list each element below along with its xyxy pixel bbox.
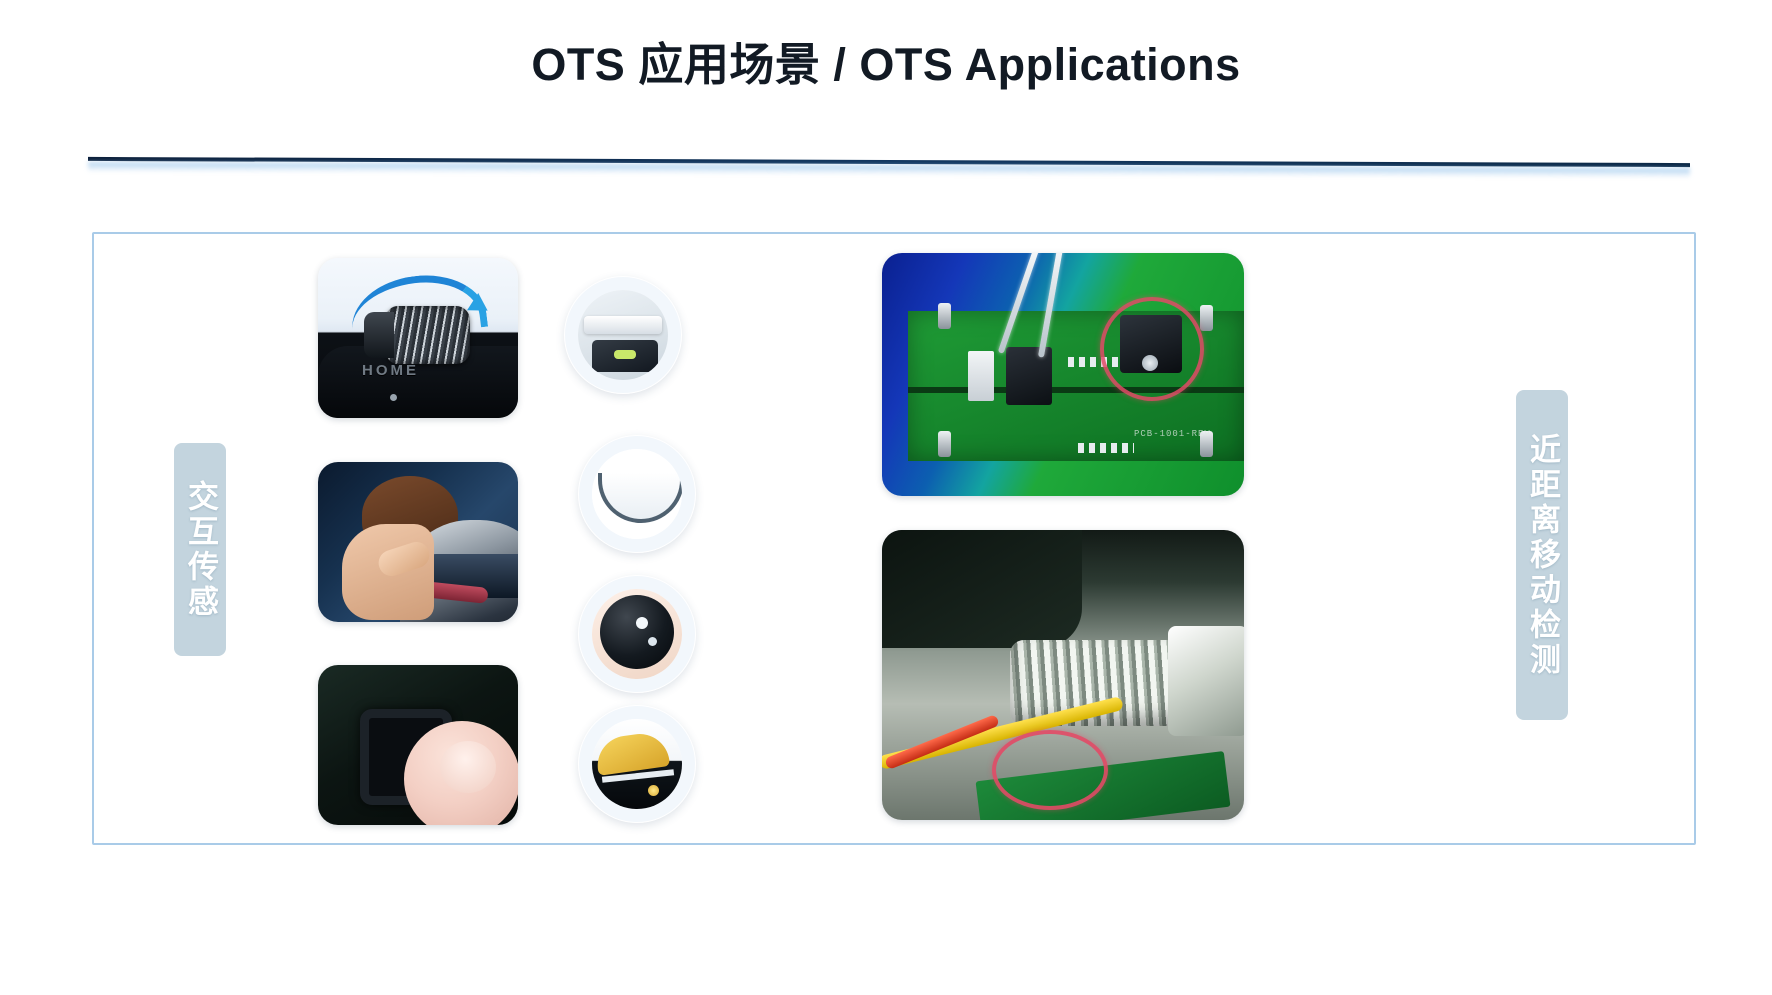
chip-curved-surface-inner <box>592 449 682 539</box>
pcb-post-1 <box>938 303 951 329</box>
chip-lens-highlight-2 <box>648 637 657 646</box>
category-label-interactive-sensing: 交互传感 <box>174 443 226 656</box>
chip-gold-package <box>578 705 696 823</box>
home-text-label: HOME <box>362 362 419 379</box>
photo-finger-on-module <box>318 665 518 825</box>
bolt-dark-fixture <box>882 530 1082 648</box>
bolt-hex-head <box>1168 626 1244 736</box>
photo-watch-crown: HOME <box>318 258 518 418</box>
photo-circuit-board-test: PCB-1001-REV <box>882 253 1244 496</box>
chip-lens-dome-icon <box>600 595 674 669</box>
crown-knob <box>386 306 470 364</box>
chip-curved-surface <box>578 435 696 553</box>
chip-sensor-module-inner <box>578 290 668 380</box>
highlight-circle-sensor <box>1100 297 1204 401</box>
photo-helmet-interaction <box>318 462 518 622</box>
chip-white-bar <box>584 316 662 334</box>
chip-lens-highlight-1 <box>636 617 648 629</box>
chip-led-window-icon <box>614 350 636 359</box>
chip-sensor-module <box>564 276 682 394</box>
watch-button-dot <box>390 394 397 401</box>
pcb-post-2 <box>938 431 951 457</box>
chip-optical-lens-inner <box>592 589 682 679</box>
finger-nail <box>440 741 496 793</box>
pcb-ic-chip <box>1006 347 1052 405</box>
pcb-post-3 <box>1200 305 1213 331</box>
category-label-proximity-detection: 近距离移动检测 <box>1516 390 1568 720</box>
pcb-silkscreen-text: PCB-1001-REV <box>1134 429 1211 439</box>
chip-optical-lens <box>578 575 696 693</box>
highlight-circle-bolt-sensor <box>992 730 1108 810</box>
chip-gold-package-inner <box>592 719 682 809</box>
pcb-solder-pads-2 <box>1078 443 1134 453</box>
chip-gold-led-dot <box>648 785 659 796</box>
page-title: OTS 应用场景 / OTS Applications <box>0 28 1772 93</box>
pcb-board-edge <box>908 387 1244 393</box>
photo-bolt-proximity <box>882 530 1244 820</box>
pcb-white-connector <box>968 351 994 401</box>
